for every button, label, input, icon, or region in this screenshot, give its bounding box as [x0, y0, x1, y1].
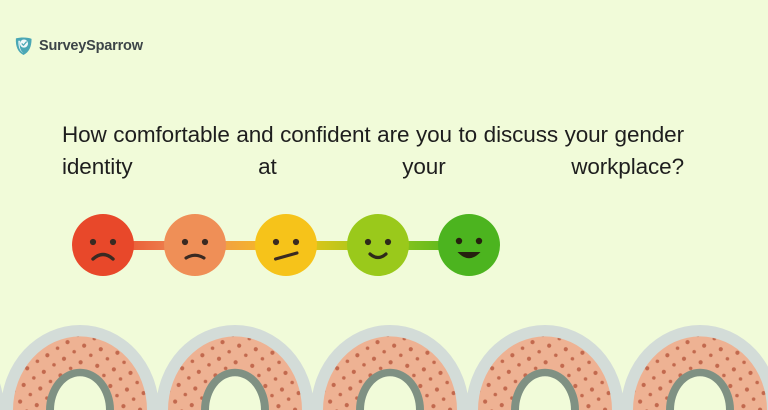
arch-rainbow-pattern: [0, 298, 768, 410]
brand-logo: SurveySparrow: [14, 36, 143, 56]
smiley-rating-scale[interactable]: [72, 214, 500, 276]
survey-slide: SurveySparrow How comfortable and confid…: [0, 0, 768, 410]
rating-option-2[interactable]: [164, 214, 226, 276]
rating-option-4[interactable]: [347, 214, 409, 276]
question-text: How comfortable and confident are you to…: [62, 119, 684, 215]
sparrow-shield-check-icon: [14, 36, 33, 56]
brand-name: SurveySparrow: [39, 38, 143, 54]
rating-option-5[interactable]: [438, 214, 500, 276]
rating-option-3[interactable]: [255, 214, 317, 276]
rating-option-1[interactable]: [72, 214, 134, 276]
